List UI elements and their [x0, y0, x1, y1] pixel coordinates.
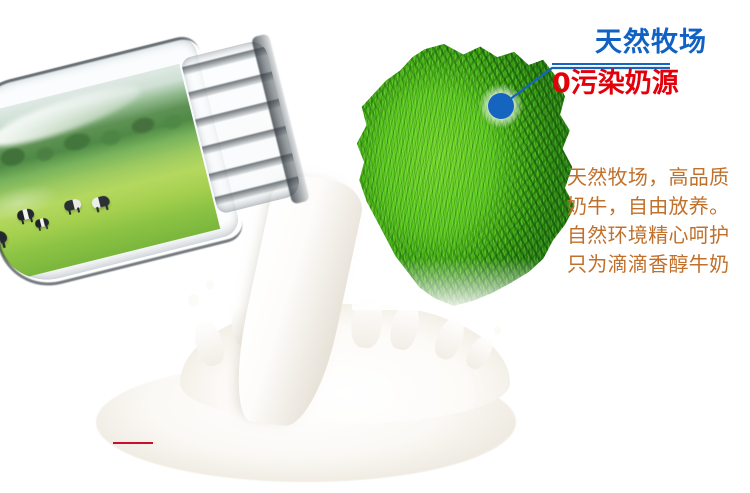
milk-droplet	[494, 326, 501, 335]
milk-droplet	[206, 280, 214, 290]
headline-block: 天然牧场 0污染奶源	[552, 26, 750, 101]
headline-title: 天然牧场	[552, 26, 750, 60]
milk-spike	[190, 317, 228, 368]
bottom-accent-rule	[113, 442, 153, 444]
headline-subtitle: 0污染奶源	[552, 67, 750, 101]
body-line: 天然牧场，高品质	[567, 163, 750, 192]
map-bottom-fade	[352, 258, 594, 310]
body-copy: 天然牧场，高品质 奶牛，自由放养。 自然环境精心呵护 只为滴滴香醇牛奶	[567, 163, 750, 279]
milk-crown-splash	[180, 304, 510, 424]
milk-spike	[229, 305, 256, 348]
milk-bottle-with-pasture	[0, 0, 337, 323]
milk-pool	[96, 362, 516, 482]
body-line: 自然环境精心呵护	[567, 221, 750, 250]
headline-rule	[552, 63, 670, 65]
milk-droplet	[188, 294, 199, 307]
body-line: 奶牛，自由放养。	[567, 192, 750, 221]
promo-banner: 天然牧场 0污染奶源 天然牧场，高品质 奶牛，自由放养。 自然环境精心呵护 只为…	[0, 0, 750, 493]
milk-spike	[431, 313, 470, 363]
milk-spike	[462, 331, 497, 372]
body-line: 只为滴滴香醇牛奶	[567, 250, 750, 279]
